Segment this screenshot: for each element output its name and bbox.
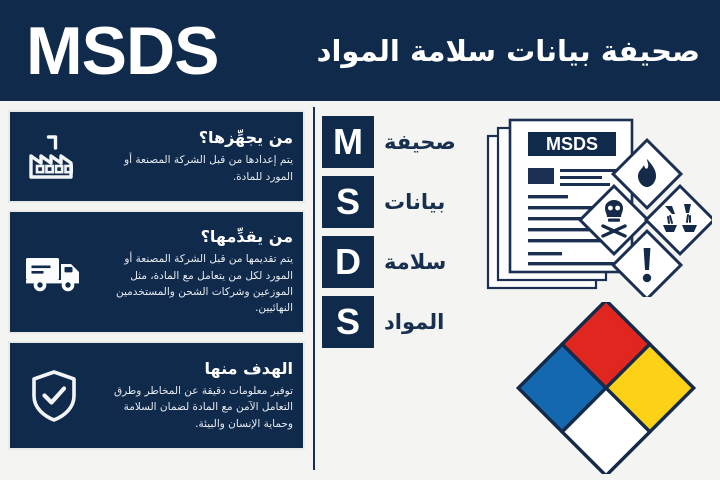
document-title-text: MSDS <box>546 134 598 154</box>
acronym-word: صحيفة <box>384 130 456 154</box>
acronym-row: D سلامة <box>322 236 492 288</box>
card-title: من يجهِّزها؟ <box>106 128 293 148</box>
card-title: من يقدِّمها؟ <box>106 227 293 247</box>
infographic-page: MSDS صحيفة بيانات سلامة المواد من يجهِّز… <box>0 0 720 480</box>
card-text-block: من يقدِّمها؟ يتم تقديمها من قبل الشركة ا… <box>98 223 303 320</box>
acronym-letter-tile: D <box>322 236 374 288</box>
card-body: يتم تقديمها من قبل الشركة المصنعة أو الم… <box>106 251 293 316</box>
acronym-row: M صحيفة <box>322 116 492 168</box>
acronym-letter-tile: S <box>322 176 374 228</box>
header-title-arabic: صحيفة بيانات سلامة المواد <box>218 34 720 68</box>
card-who-provides: من يقدِّمها؟ يتم تقديمها من قبل الشركة ا… <box>8 210 305 334</box>
delivery-truck-icon <box>10 250 98 294</box>
acronym-word: المواد <box>384 310 444 334</box>
header-banner: MSDS صحيفة بيانات سلامة المواد <box>0 0 720 101</box>
acronym-row: S بيانات <box>322 176 492 228</box>
header-logo-msds: MSDS <box>26 17 218 85</box>
factory-icon <box>10 133 98 181</box>
card-body: توفير معلومات دقيقة عن المخاطر وطرق التع… <box>106 383 293 432</box>
acronym-breakdown: M صحيفة S بيانات D سلامة S المواد <box>322 116 492 356</box>
acronym-row: S المواد <box>322 296 492 348</box>
card-body: يتم إعدادها من قبل الشركة المصنعة أو الم… <box>106 152 293 185</box>
card-title: الهدف منها <box>106 359 293 379</box>
vertical-divider <box>313 107 315 470</box>
msds-document-illustration: MSDS <box>484 112 712 297</box>
card-text-block: الهدف منها توفير معلومات دقيقة عن المخاط… <box>98 355 303 436</box>
card-text-block: من يجهِّزها؟ يتم إعدادها من قبل الشركة ا… <box>98 124 303 189</box>
acronym-letter-tile: M <box>322 116 374 168</box>
card-purpose: الهدف منها توفير معلومات دقيقة عن المخاط… <box>8 341 305 450</box>
acronym-word: بيانات <box>384 190 445 214</box>
shield-check-icon <box>10 368 98 424</box>
nfpa-704-diamond <box>502 302 710 474</box>
acronym-word: سلامة <box>384 250 446 274</box>
acronym-letter-tile: S <box>322 296 374 348</box>
card-who-prepares: من يجهِّزها؟ يتم إعدادها من قبل الشركة ا… <box>8 110 305 203</box>
